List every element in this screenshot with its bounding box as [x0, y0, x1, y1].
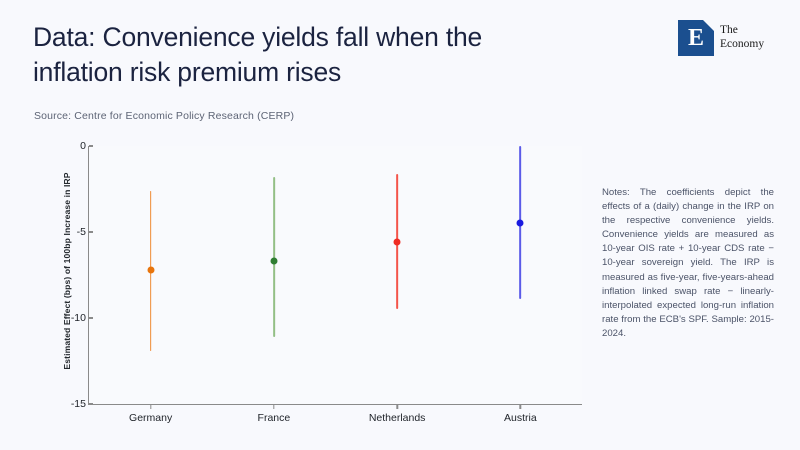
x-axis-tick-label: France: [258, 412, 291, 424]
y-axis-tick: 0: [80, 140, 89, 152]
chart: Estimated Effect (bps) of 100bp Increase…: [30, 138, 590, 438]
x-axis-tick-label: Germany: [129, 412, 172, 424]
y-axis-tick: -15: [71, 398, 89, 410]
page-title: Data: Convenience yields fall when the i…: [33, 20, 573, 90]
page-fold-icon: [703, 20, 714, 31]
economy-logo-icon: E: [678, 20, 714, 56]
y-axis-label: Estimated Effect (bps) of 100bp Increase…: [62, 146, 72, 396]
x-axis-tick-mark: [520, 404, 521, 409]
estimate-point-marker: [394, 239, 401, 246]
y-axis-tick-mark: [89, 145, 93, 146]
y-axis-tick-label: -15: [71, 398, 89, 410]
y-axis-tick-label: -10: [71, 312, 89, 324]
y-axis-tick-label: 0: [80, 140, 89, 152]
brand-name: The Economy: [720, 24, 764, 51]
plot-area: 0-5-10-15GermanyFranceNetherlandsAustria: [88, 146, 582, 405]
y-axis-tick: -5: [77, 226, 89, 238]
x-axis-tick-mark: [150, 404, 151, 409]
slide-canvas: Data: Convenience yields fall when the i…: [0, 0, 800, 450]
brand-name-line1: The: [720, 24, 764, 38]
x-axis-tick-mark: [396, 404, 397, 409]
y-axis-tick-mark: [89, 317, 93, 318]
x-axis-tick-mark: [273, 404, 274, 409]
notes-text: Notes: The coefficients depict the effec…: [602, 186, 774, 341]
estimate-point-marker: [517, 220, 524, 227]
estimate-point-marker: [270, 258, 277, 265]
brand-logo: E The Economy: [678, 20, 764, 56]
y-axis-tick-mark: [89, 403, 93, 404]
y-axis-tick: -10: [71, 312, 89, 324]
source-caption: Source: Centre for Economic Policy Resea…: [34, 110, 294, 122]
x-axis-tick-label: Austria: [504, 412, 537, 424]
estimate-point-marker: [147, 266, 154, 273]
y-axis-tick-mark: [89, 231, 93, 232]
brand-name-line2: Economy: [720, 38, 764, 52]
y-axis-tick-label: -5: [77, 226, 89, 238]
x-axis-tick-label: Netherlands: [369, 412, 426, 424]
